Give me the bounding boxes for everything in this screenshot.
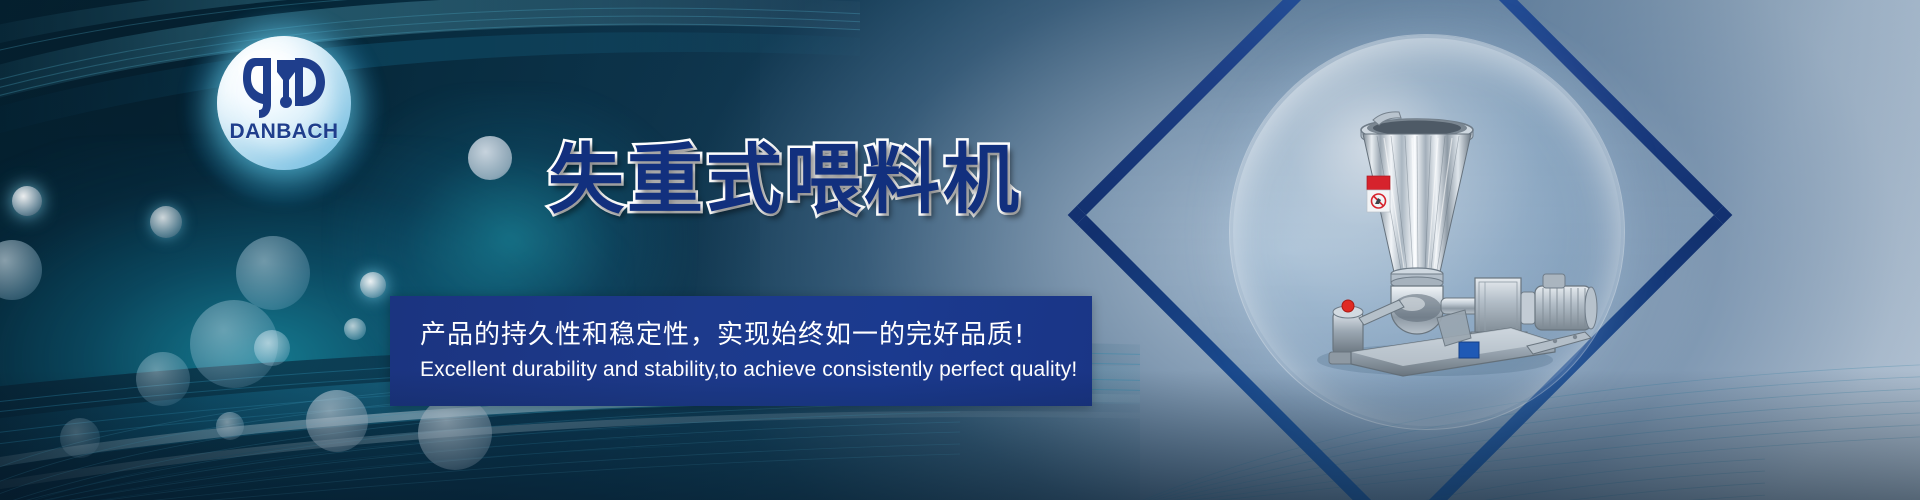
subtitle-chinese: 产品的持久性和稳定性，实现始终如一的完好品质! — [420, 314, 1025, 351]
page-title: 失重式喂料机 — [548, 118, 1022, 228]
loss-in-weight-feeder-machine-icon — [1255, 60, 1615, 420]
subtitle-english: Excellent durability and stability,to ac… — [420, 358, 1077, 382]
product-showcase — [1105, 0, 1765, 500]
subtitle-box: 产品的持久性和稳定性，实现始终如一的完好品质! Excellent durabi… — [390, 296, 1092, 406]
danbach-sphere-logo-icon — [239, 50, 331, 122]
banner-root: DANBACH 失重式喂料机 产品的持久性和稳定性，实现始终如一的完好品质! E… — [0, 0, 1920, 500]
corner-line-fan-icon — [1205, 370, 1765, 500]
brand-logo[interactable]: DANBACH — [213, 32, 353, 182]
brand-name: DANBACH — [213, 120, 355, 144]
